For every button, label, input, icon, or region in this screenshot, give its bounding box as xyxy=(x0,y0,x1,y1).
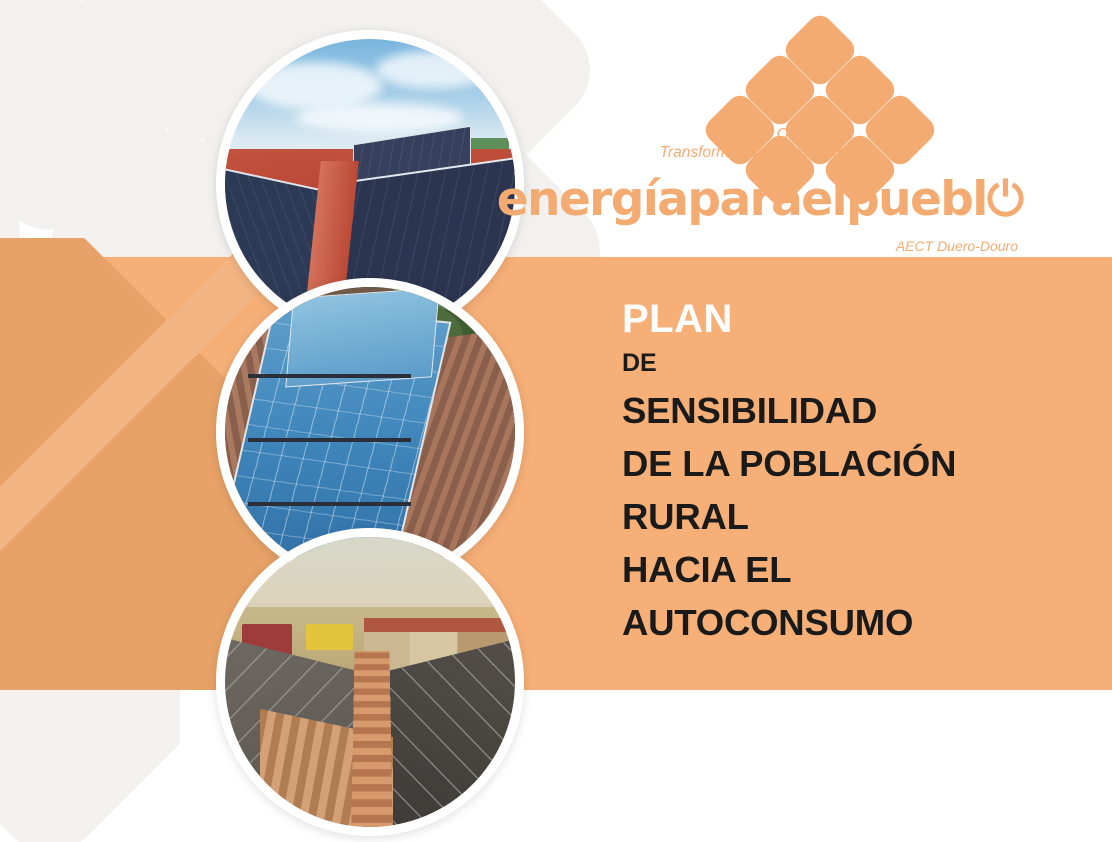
brand-logo: Oficinas de Transformación Comunitaria e… xyxy=(604,24,1024,244)
cover-title-block: PLAN DE SENSIBILIDAD DE LA POBLACIÓN RUR… xyxy=(622,296,1042,649)
grey-corner-shape xyxy=(0,690,180,842)
logo-wordmark: energíaparaelpuebl⏻ xyxy=(497,174,1024,226)
title-line-de: DE xyxy=(622,342,1042,384)
logo-wordmark-text: energíaparaelpuebl xyxy=(497,172,987,227)
power-symbol-icon: ⏻ xyxy=(987,172,1024,227)
title-main-lines: SENSIBILIDAD DE LA POBLACIÓN RURAL HACIA… xyxy=(622,384,1042,649)
photo-roof-ridge-solar-panels xyxy=(216,528,524,836)
title-line-plan: PLAN xyxy=(622,296,1042,342)
logo-subtitle: AECT Duero-Douro xyxy=(896,238,1018,254)
logo-tagline: Oficinas de Transformación Comunitaria xyxy=(660,126,854,162)
report-cover-page: Oficinas de Transformación Comunitaria e… xyxy=(0,0,1112,842)
